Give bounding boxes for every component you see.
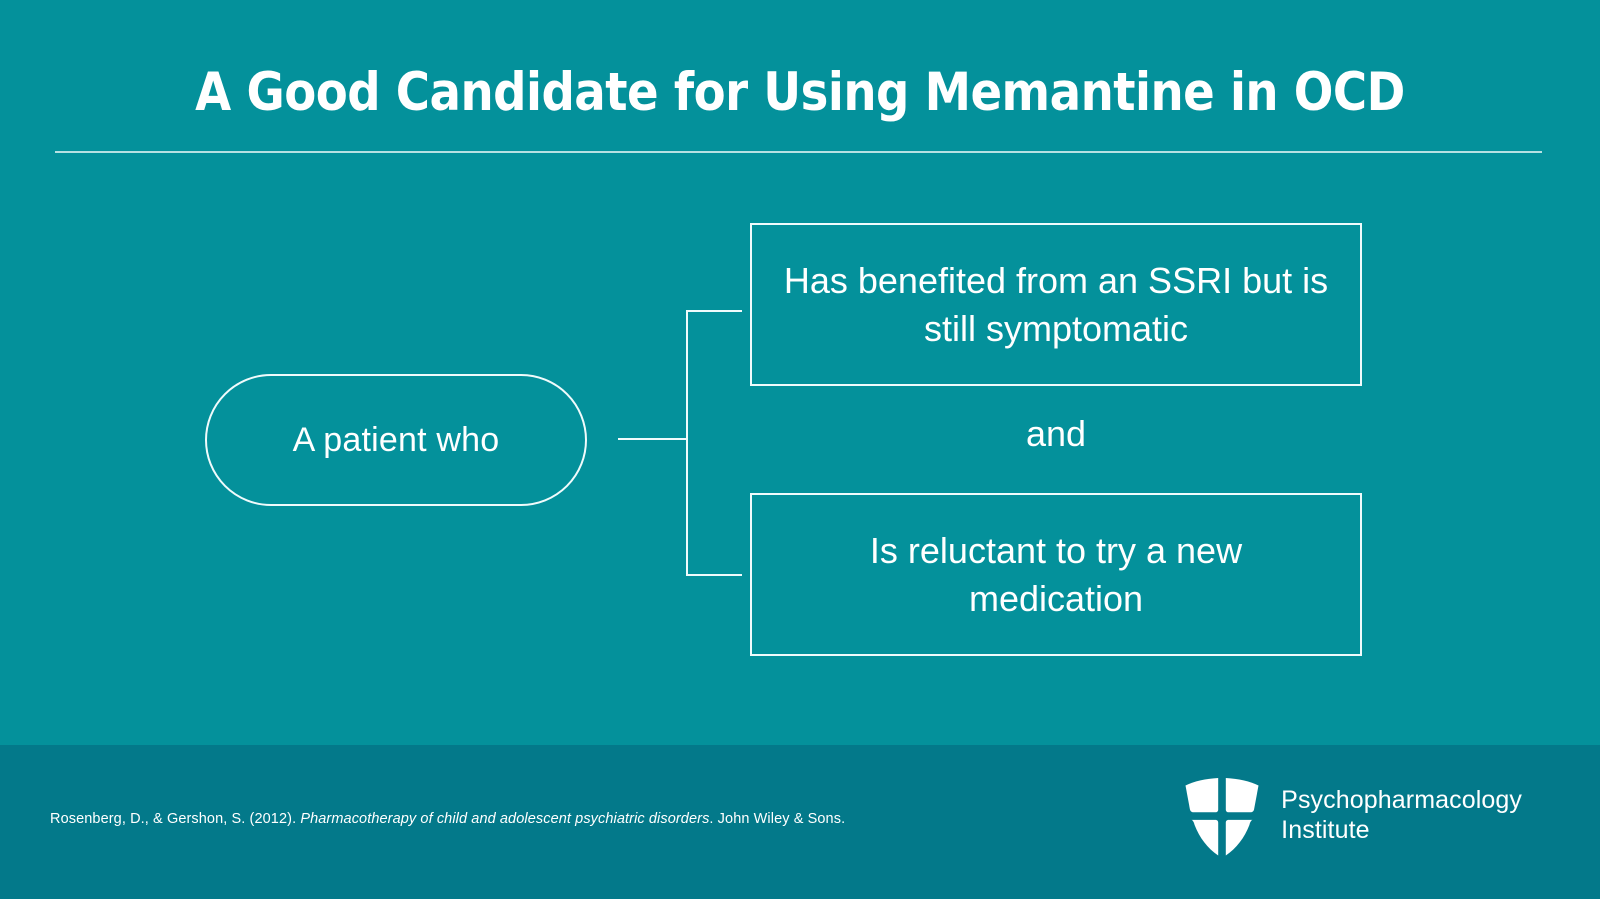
diagram: A patient who Has benefited from an SSRI… (0, 0, 1600, 745)
connector-stem (618, 438, 688, 440)
connector-bottom-branch (686, 574, 742, 576)
brand-name-line2: Institute (1281, 815, 1522, 846)
conjunction-label: and (750, 413, 1362, 455)
citation-title: Pharmacotherapy of child and adolescent … (300, 811, 709, 827)
connector-vertical (686, 310, 688, 576)
branch-box-2: Is reluctant to try a new medication (750, 493, 1362, 656)
citation-authors-year: Rosenberg, D., & Gershon, S. (2012). (50, 811, 300, 827)
brand-name: Psychopharmacology Institute (1281, 785, 1522, 846)
brand-lockup: Psychopharmacology Institute (1181, 769, 1522, 861)
diagram-root-label: A patient who (293, 421, 500, 460)
brand-name-line1: Psychopharmacology (1281, 786, 1522, 814)
slide: A Good Candidate for Using Memantine in … (0, 0, 1600, 899)
citation: Rosenberg, D., & Gershon, S. (2012). Pha… (50, 811, 845, 827)
branch-box-2-label: Is reluctant to try a new medication (778, 527, 1334, 623)
connector-top-branch (686, 310, 742, 312)
branch-box-1: Has benefited from an SSRI but is still … (750, 223, 1362, 386)
footer-bar: Rosenberg, D., & Gershon, S. (2012). Pha… (0, 745, 1600, 899)
citation-publisher: . John Wiley & Sons. (709, 811, 845, 827)
branch-box-1-label: Has benefited from an SSRI but is still … (778, 257, 1334, 353)
diagram-root-node: A patient who (205, 374, 587, 506)
shield-icon (1181, 769, 1263, 861)
